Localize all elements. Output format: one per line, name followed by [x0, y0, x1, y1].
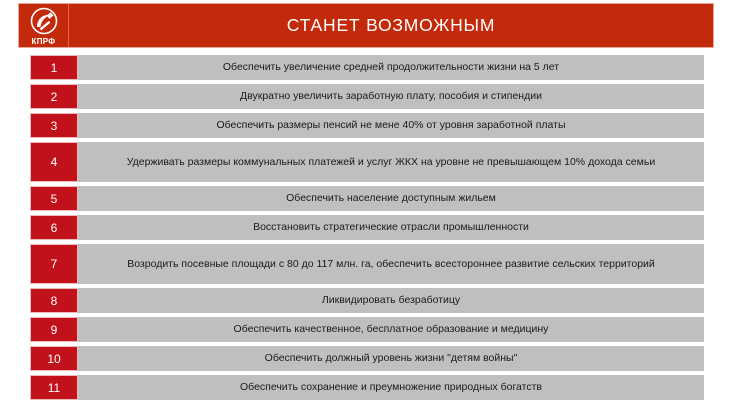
list-item-number: 4: [30, 142, 78, 182]
list-item-number: 8: [30, 288, 78, 313]
list-item: 4Удерживать размеры коммунальных платеже…: [30, 142, 704, 182]
list-item-text: Восстановить стратегические отрасли пром…: [78, 215, 704, 240]
promise-list: 1Обеспечить увеличение средней продолжит…: [30, 55, 704, 404]
list-item-text: Ликвидировать безработицу: [78, 288, 704, 313]
list-item-number: 7: [30, 244, 78, 284]
list-item-number: 3: [30, 113, 78, 138]
kprf-logo-label: КПРФ: [32, 37, 56, 46]
list-item: 8Ликвидировать безработицу: [30, 288, 704, 313]
list-item: 10Обеспечить должный уровень жизни "детя…: [30, 346, 704, 371]
list-item: 9Обеспечить качественное, бесплатное обр…: [30, 317, 704, 342]
list-item-number: 10: [30, 346, 78, 371]
list-item: 2Двукратно увеличить заработную плату, п…: [30, 84, 704, 109]
list-item: 6Восстановить стратегические отрасли про…: [30, 215, 704, 240]
list-item-text: Удерживать размеры коммунальных платежей…: [78, 142, 704, 182]
list-item-number: 2: [30, 84, 78, 109]
list-item-number: 6: [30, 215, 78, 240]
list-item-text: Обеспечить качественное, бесплатное обра…: [78, 317, 704, 342]
list-item: 11Обеспечить сохранение и преумножение п…: [30, 375, 704, 400]
slide-header: КПРФ СТАНЕТ ВОЗМОЖНЫМ: [18, 3, 714, 48]
page-title: СТАНЕТ ВОЗМОЖНЫМ: [287, 15, 495, 36]
list-item: 7Возродить посевные площади с 80 до 117 …: [30, 244, 704, 284]
list-item-text: Обеспечить сохранение и преумножение при…: [78, 375, 704, 400]
list-item-number: 11: [30, 375, 78, 400]
list-item-number: 9: [30, 317, 78, 342]
list-item-text: Обеспечить население доступным жильем: [78, 186, 704, 211]
slide-canvas: КПРФ СТАНЕТ ВОЗМОЖНЫМ 1Обеспечить увелич…: [0, 0, 734, 403]
list-item-text: Двукратно увеличить заработную плату, по…: [78, 84, 704, 109]
list-item-text: Обеспечить размеры пенсий не мене 40% от…: [78, 113, 704, 138]
list-item-text: Обеспечить должный уровень жизни "детям …: [78, 346, 704, 371]
kprf-logo: КПРФ: [19, 4, 69, 47]
list-item: 1Обеспечить увеличение средней продолжит…: [30, 55, 704, 80]
list-item: 3Обеспечить размеры пенсий не мене 40% о…: [30, 113, 704, 138]
list-item: 5Обеспечить население доступным жильем: [30, 186, 704, 211]
header-title-container: СТАНЕТ ВОЗМОЖНЫМ: [69, 4, 713, 47]
list-item-text: Возродить посевные площади с 80 до 117 м…: [78, 244, 704, 284]
list-item-text: Обеспечить увеличение средней продолжите…: [78, 55, 704, 80]
hammer-and-sickle-icon: [28, 7, 60, 37]
list-item-number: 5: [30, 186, 78, 211]
list-item-number: 1: [30, 55, 78, 80]
